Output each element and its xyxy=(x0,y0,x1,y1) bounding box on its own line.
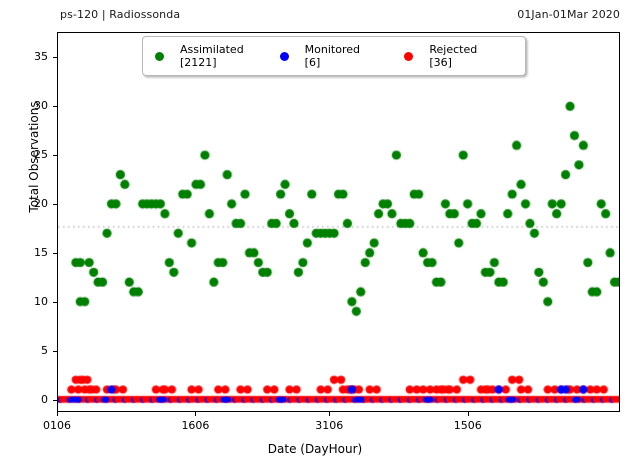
x-tick-label-3106: 3106 xyxy=(299,419,359,432)
legend-series-count: [6] xyxy=(305,56,360,69)
x-tick-label-1506: 1506 xyxy=(438,419,498,432)
blue-dot-icon xyxy=(280,52,289,61)
y-tick-mark-0 xyxy=(53,400,57,401)
chart-legend: Assimilated[2121]Monitored[6]Rejected[36… xyxy=(142,36,526,76)
legend-series-name: Rejected xyxy=(429,43,477,56)
header-date-range: 01Jan-01Mar 2020 xyxy=(517,8,620,21)
legend-entry-rejected[interactable]: Rejected[36] xyxy=(396,43,521,69)
scatter-canvas xyxy=(58,33,619,411)
red-dot-icon xyxy=(404,52,413,61)
legend-label-rejected: Rejected[36] xyxy=(429,43,477,69)
y-tick-mark-25 xyxy=(53,155,57,156)
x-tick-mark-3106 xyxy=(329,412,330,416)
y-tick-mark-20 xyxy=(53,204,57,205)
chart-figure: ps-120 | Radiossonda 01Jan-01Mar 2020 05… xyxy=(0,0,630,470)
x-axis-title: Date (DayHour) xyxy=(0,442,630,456)
x-tick-label-0106: 0106 xyxy=(27,419,87,432)
y-tick-label-10: 10 xyxy=(20,295,48,308)
header-station-label: ps-120 | Radiossonda xyxy=(60,8,180,21)
y-tick-mark-35 xyxy=(53,57,57,58)
legend-series-count: [36] xyxy=(429,56,477,69)
legend-label-assimilated: Assimilated[2121] xyxy=(180,43,244,69)
legend-series-name: Assimilated xyxy=(180,43,244,56)
y-axis-title: Total Observations xyxy=(27,57,41,257)
legend-entry-monitored[interactable]: Monitored[6] xyxy=(272,43,397,69)
y-tick-mark-15 xyxy=(53,253,57,254)
x-tick-mark-1506 xyxy=(468,412,469,416)
y-tick-label-0: 0 xyxy=(20,393,48,406)
y-tick-mark-30 xyxy=(53,106,57,107)
legend-entry-assimilated[interactable]: Assimilated[2121] xyxy=(147,43,272,69)
y-tick-mark-10 xyxy=(53,302,57,303)
legend-series-name: Monitored xyxy=(305,43,360,56)
legend-series-count: [2121] xyxy=(180,56,244,69)
x-tick-mark-0106 xyxy=(57,412,58,416)
y-tick-mark-5 xyxy=(53,351,57,352)
x-tick-label-1606: 1606 xyxy=(165,419,225,432)
legend-label-monitored: Monitored[6] xyxy=(305,43,360,69)
green-dot-icon xyxy=(155,52,164,61)
plot-area xyxy=(57,32,620,412)
x-tick-mark-1606 xyxy=(195,412,196,416)
y-tick-label-5: 5 xyxy=(20,344,48,357)
